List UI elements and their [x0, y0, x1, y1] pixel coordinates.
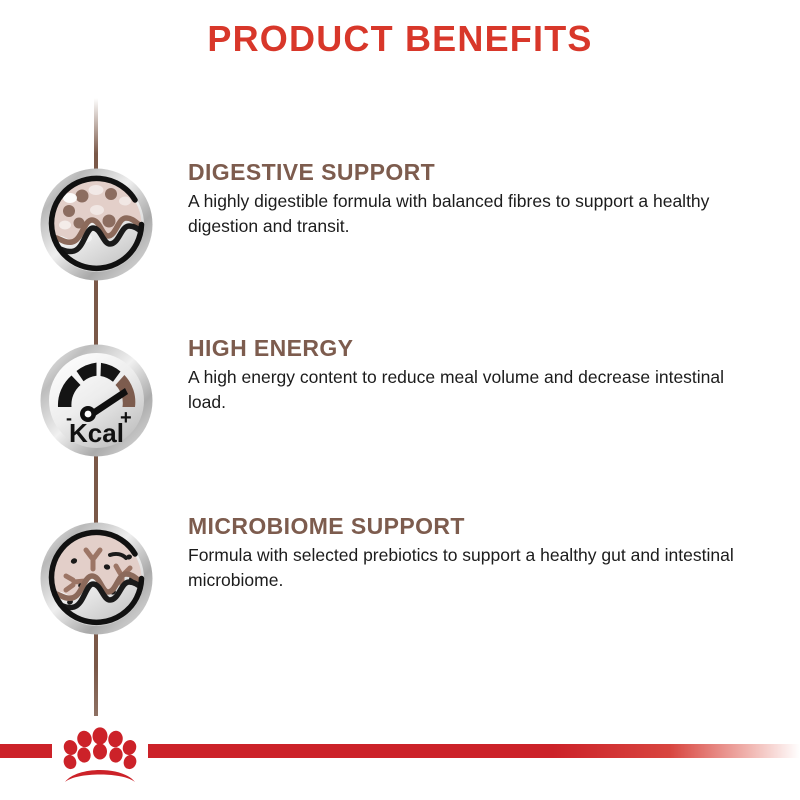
- benefit-body: Formula with selected prebiotics to supp…: [188, 543, 753, 593]
- benefit-text-block: HIGH ENERGY A high energy content to red…: [188, 336, 768, 415]
- microbiome-bacteria-icon: [40, 522, 153, 635]
- digestion-wave-icon: [40, 168, 153, 281]
- benefit-text-block: MICROBIOME SUPPORT Formula with selected…: [188, 514, 768, 593]
- benefit-body: A highly digestible formula with balance…: [188, 189, 753, 239]
- footer-bar-left: [0, 744, 52, 758]
- benefit-heading: DIGESTIVE SUPPORT: [188, 160, 768, 185]
- benefit-text-block: DIGESTIVE SUPPORT A highly digestible fo…: [188, 160, 768, 239]
- benefit-body: A high energy content to reduce meal vol…: [188, 365, 753, 415]
- product-benefits-page: PRODUCT BENEFITS: [0, 0, 800, 800]
- kcal-gauge-icon: - + Kcal: [40, 344, 153, 457]
- footer-bar-right: [148, 744, 800, 758]
- gauge-kcal-label: Kcal: [69, 418, 124, 448]
- benefit-heading: HIGH ENERGY: [188, 336, 768, 361]
- benefit-heading: MICROBIOME SUPPORT: [188, 514, 768, 539]
- page-title: PRODUCT BENEFITS: [0, 18, 800, 60]
- royal-canin-crown-logo: [55, 726, 145, 784]
